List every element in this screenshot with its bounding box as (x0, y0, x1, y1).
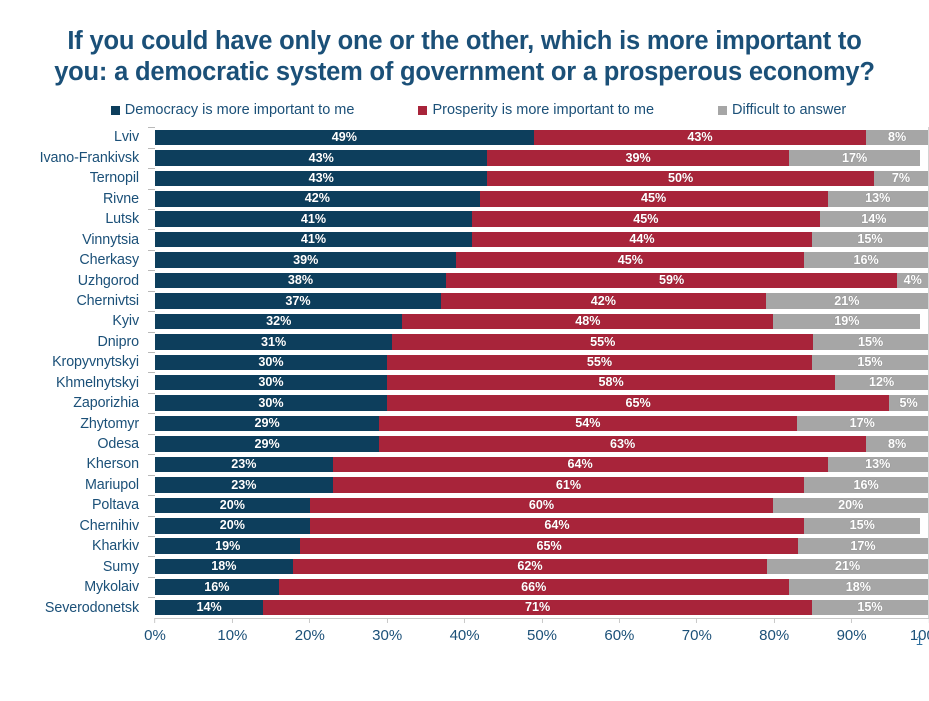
category-label-vinnytsia: Vinnytsia (0, 232, 148, 248)
bar-segment-b[interactable]: 55% (392, 334, 813, 350)
x-tick-label: 0% (144, 627, 166, 644)
x-tick-label: 50% (527, 627, 557, 644)
y-axis-tick (148, 495, 155, 515)
y-axis-tick (148, 413, 155, 433)
y-axis-tick (148, 454, 155, 474)
chart-legend: Democracy is more important to meProsper… (0, 102, 929, 118)
x-tick-mark (309, 618, 310, 623)
bar-segment-c[interactable]: 16% (804, 477, 928, 493)
stacked-bar-rows: Lviv49%43%8%Ivano-Frankivsk43%39%17%Tern… (0, 127, 929, 618)
x-tick-mark (542, 618, 543, 623)
bar-segment-b[interactable]: 45% (456, 252, 804, 268)
bar-track: 23%61%16% (155, 475, 929, 495)
chart-row: Kharkiv19%65%17% (0, 536, 929, 556)
bar-value-label: 44% (629, 233, 654, 246)
bar-track: 41%45%14% (155, 209, 929, 229)
category-label-odesa: Odesa (0, 436, 148, 452)
bar-segment-a[interactable]: 29% (155, 416, 379, 432)
bar-value-label: 30% (258, 397, 283, 410)
x-tick-90: 90% (837, 618, 867, 644)
bar-value-label: 15% (857, 356, 882, 369)
x-tick-mark (155, 618, 156, 623)
bar-track: 23%64%13% (155, 454, 929, 474)
chart-row: Kropyvnytskyi30%55%15% (0, 352, 929, 372)
bar-segment-b[interactable]: 50% (487, 171, 874, 187)
y-axis-tick (148, 352, 155, 372)
chart-row: Dnipro31%55%15% (0, 332, 929, 352)
bar-segment-a[interactable]: 14% (155, 600, 263, 616)
bar-segment-c[interactable]: 12% (835, 375, 928, 391)
y-axis-tick (148, 229, 155, 249)
x-tick-40: 40% (450, 618, 480, 644)
x-tick-label: 90% (837, 627, 867, 644)
bar-value-label: 54% (575, 417, 600, 430)
bar-segment-a[interactable]: 31% (155, 334, 392, 350)
bar-value-label: 30% (258, 376, 283, 389)
x-tick-20: 20% (295, 618, 325, 644)
bar-segment-c[interactable]: 20% (773, 498, 928, 514)
bar-track: 41%44%15% (155, 229, 929, 249)
x-tick-mark (464, 618, 465, 623)
bar-segment-b[interactable]: 45% (480, 191, 828, 207)
bar-value-label: 19% (834, 315, 859, 328)
bar-value-label: 64% (544, 519, 569, 532)
category-label-severodonetsk: Severodonetsk (0, 600, 148, 616)
bar-segment-a[interactable]: 23% (155, 477, 333, 493)
bar-segment-c[interactable]: 15% (804, 518, 920, 534)
bar-value-label: 71% (525, 601, 550, 614)
bar-track: 39%45%16% (155, 250, 929, 270)
x-tick-label: 80% (759, 627, 789, 644)
bar-track: 20%64%15% (155, 516, 929, 536)
category-label-poltava: Poltava (0, 497, 148, 513)
legend-item-2[interactable]: Difficult to answer (718, 102, 846, 118)
chart-row: Uzhgorod38%59%4% (0, 270, 929, 290)
bar-value-label: 39% (626, 152, 651, 165)
category-label-lviv: Lviv (0, 129, 148, 145)
bar-segment-a[interactable]: 39% (155, 252, 456, 268)
bar-segment-a[interactable]: 20% (155, 498, 310, 514)
chart-row: Kyiv32%48%19% (0, 311, 929, 331)
bar-value-label: 15% (858, 336, 883, 349)
bar-segment-c[interactable]: 7% (874, 171, 928, 187)
bar-segment-b[interactable]: 44% (472, 232, 812, 248)
x-tick-label: 10% (217, 627, 247, 644)
bar-value-label: 20% (220, 519, 245, 532)
bar-value-label: 49% (332, 131, 357, 144)
bar-segment-c[interactable]: 19% (773, 314, 920, 330)
y-axis-tick (148, 311, 155, 331)
bar-segment-b[interactable]: 48% (402, 314, 773, 330)
bar-segment-a[interactable]: 16% (155, 579, 279, 595)
bar-value-label: 14% (861, 213, 886, 226)
bar-segment-b[interactable]: 54% (379, 416, 796, 432)
bar-value-label: 38% (288, 274, 313, 287)
legend-label: Difficult to answer (732, 102, 846, 118)
bar-value-label: 13% (865, 192, 890, 205)
y-axis-tick (148, 577, 155, 597)
bar-segment-b[interactable]: 61% (333, 477, 805, 493)
bar-track: 16%66%18% (155, 577, 929, 597)
bar-segment-c[interactable]: 15% (812, 232, 928, 248)
category-label-uzhgorod: Uzhgorod (0, 273, 148, 289)
bar-value-label: 19% (215, 540, 240, 553)
x-tick-mark (774, 618, 775, 623)
category-label-lutsk: Lutsk (0, 211, 148, 227)
bar-value-label: 14% (197, 601, 222, 614)
bar-track: 31%55%15% (155, 332, 929, 352)
chart-row: Zhytomyr29%54%17% (0, 413, 929, 433)
page-number: 1 (916, 633, 923, 648)
bar-value-label: 60% (529, 499, 554, 512)
bar-segment-b[interactable]: 64% (310, 518, 805, 534)
bar-segment-a[interactable]: 37% (155, 293, 441, 309)
bar-value-label: 21% (835, 560, 860, 573)
bar-value-label: 23% (231, 458, 256, 471)
bar-value-label: 45% (633, 213, 658, 226)
bar-segment-b[interactable]: 60% (310, 498, 774, 514)
bar-segment-c[interactable]: 15% (813, 334, 928, 350)
bar-value-label: 23% (231, 479, 256, 492)
y-axis-tick (148, 434, 155, 454)
y-axis-tick (148, 168, 155, 188)
x-axis-line: 0%10%20%30%40%50%60%70%80%90%100% (155, 618, 929, 644)
bar-value-label: 64% (568, 458, 593, 471)
bar-segment-b[interactable]: 65% (300, 538, 797, 554)
category-label-mariupol: Mariupol (0, 477, 148, 493)
legend-swatch-icon (718, 106, 727, 115)
legend-item-1[interactable]: Prosperity is more important to me (418, 102, 654, 118)
bar-segment-c[interactable]: 18% (789, 579, 928, 595)
category-label-rivne: Rivne (0, 191, 148, 207)
y-axis-tick (148, 270, 155, 290)
x-tick-70: 70% (682, 618, 712, 644)
y-axis-tick (148, 393, 155, 413)
bar-value-label: 8% (888, 438, 906, 451)
bar-segment-a[interactable]: 32% (155, 314, 402, 330)
bar-segment-a[interactable]: 30% (155, 355, 387, 371)
legend-label: Prosperity is more important to me (432, 102, 654, 118)
bar-value-label: 43% (309, 172, 334, 185)
bar-segment-c[interactable]: 21% (766, 293, 928, 309)
bar-segment-c[interactable]: 4% (897, 273, 928, 289)
bar-segment-b[interactable]: 39% (487, 150, 788, 166)
chart-row: Vinnytsia41%44%15% (0, 229, 929, 249)
bar-value-label: 13% (865, 458, 890, 471)
bar-value-label: 62% (517, 560, 542, 573)
y-axis-tick (148, 597, 155, 617)
bar-segment-b[interactable]: 43% (534, 130, 866, 146)
chart-row: Ternopil43%50%7% (0, 168, 929, 188)
bar-track: 30%65%5% (155, 393, 929, 413)
category-label-sumy: Sumy (0, 559, 148, 575)
category-label-cherkasy: Cherkasy (0, 252, 148, 268)
y-axis-tick (148, 556, 155, 576)
bar-value-label: 63% (610, 438, 635, 451)
y-axis-tick (148, 332, 155, 352)
bar-value-label: 18% (211, 560, 236, 573)
chart-row: Poltava20%60%20% (0, 495, 929, 515)
category-label-khmelnytskyi: Khmelnytskyi (0, 375, 148, 391)
x-tick-10: 10% (217, 618, 247, 644)
bar-value-label: 48% (575, 315, 600, 328)
bar-value-label: 66% (521, 581, 546, 594)
bar-track: 30%55%15% (155, 352, 929, 372)
bar-segment-b[interactable]: 59% (446, 273, 898, 289)
bar-segment-c[interactable]: 17% (789, 150, 920, 166)
bar-segment-c[interactable]: 8% (866, 436, 928, 452)
y-axis-tick (148, 475, 155, 495)
bar-segment-c[interactable]: 21% (767, 559, 928, 575)
bar-value-label: 65% (537, 540, 562, 553)
x-tick-label: 60% (604, 627, 634, 644)
chart-plot-area: Lviv49%43%8%Ivano-Frankivsk43%39%17%Tern… (0, 127, 929, 644)
bar-value-label: 50% (668, 172, 693, 185)
bar-value-label: 21% (834, 295, 859, 308)
bar-value-label: 17% (842, 152, 867, 165)
bar-segment-c[interactable]: 5% (889, 395, 928, 411)
y-axis-tick (148, 189, 155, 209)
bar-track: 14%71%15% (155, 597, 929, 617)
bar-value-label: 7% (892, 172, 910, 185)
chart-row: Khmelnytskyi30%58%12% (0, 372, 929, 392)
y-axis-tick (148, 127, 155, 147)
chart-row: Chernihiv20%64%15% (0, 516, 929, 536)
bar-value-label: 16% (854, 479, 879, 492)
x-tick-mark (232, 618, 233, 623)
bar-value-label: 42% (591, 295, 616, 308)
y-axis-tick (148, 209, 155, 229)
bar-segment-a[interactable]: 42% (155, 191, 480, 207)
bar-segment-a[interactable]: 41% (155, 232, 472, 248)
bar-segment-c[interactable]: 15% (812, 355, 928, 371)
bar-value-label: 17% (850, 417, 875, 430)
bar-value-label: 15% (857, 601, 882, 614)
bar-value-label: 43% (687, 131, 712, 144)
bar-value-label: 39% (293, 254, 318, 267)
bar-segment-a[interactable]: 43% (155, 150, 487, 166)
bar-track: 29%54%17% (155, 413, 929, 433)
y-axis-tick (148, 291, 155, 311)
bar-segment-c[interactable]: 13% (828, 457, 928, 473)
bar-segment-b[interactable]: 71% (263, 600, 812, 616)
bar-value-label: 32% (266, 315, 291, 328)
bar-value-label: 17% (850, 540, 875, 553)
bar-track: 18%62%21% (155, 556, 929, 576)
bar-track: 43%39%17% (155, 148, 929, 168)
bar-value-label: 20% (220, 499, 245, 512)
x-tick-80: 80% (759, 618, 789, 644)
x-tick-mark (851, 618, 852, 623)
page-title: If you could have only one or the other,… (0, 0, 929, 88)
axis-left-pad (0, 618, 155, 644)
bar-value-label: 29% (254, 417, 279, 430)
x-tick-mark (387, 618, 388, 623)
bar-segment-a[interactable]: 41% (155, 211, 472, 227)
bar-value-label: 55% (590, 336, 615, 349)
bar-track: 42%45%13% (155, 189, 929, 209)
bar-segment-a[interactable]: 19% (155, 538, 300, 554)
chart-row: Severodonetsk14%71%15% (0, 597, 929, 617)
x-tick-label: 20% (295, 627, 325, 644)
bar-value-label: 37% (285, 295, 310, 308)
y-axis-tick (148, 148, 155, 168)
y-axis-tick (148, 516, 155, 536)
category-label-chernivtsi: Chernivtsi (0, 293, 148, 309)
bar-value-label: 42% (305, 192, 330, 205)
bar-segment-a[interactable]: 18% (155, 559, 293, 575)
bar-value-label: 16% (854, 254, 879, 267)
bar-segment-b[interactable]: 45% (472, 211, 820, 227)
chart-row: Sumy18%62%21% (0, 556, 929, 576)
bar-segment-c[interactable]: 15% (812, 600, 928, 616)
y-axis-tick (148, 250, 155, 270)
chart-row: Odesa29%63%8% (0, 434, 929, 454)
bar-value-label: 41% (301, 213, 326, 226)
bar-value-label: 59% (659, 274, 684, 287)
bar-segment-a[interactable]: 38% (155, 273, 446, 289)
bar-segment-b[interactable]: 58% (387, 375, 835, 391)
bar-track: 30%58%12% (155, 372, 929, 392)
category-label-dnipro: Dnipro (0, 334, 148, 350)
category-label-zhytomyr: Zhytomyr (0, 416, 148, 432)
chart-row: Chernivtsi37%42%21% (0, 291, 929, 311)
bar-segment-b[interactable]: 42% (441, 293, 766, 309)
bar-segment-b[interactable]: 65% (387, 395, 889, 411)
chart-row: Ivano-Frankivsk43%39%17% (0, 148, 929, 168)
bar-segment-c[interactable]: 16% (804, 252, 928, 268)
bar-value-label: 5% (900, 397, 918, 410)
bar-value-label: 55% (587, 356, 612, 369)
category-label-kyiv: Kyiv (0, 313, 148, 329)
chart-row: Mykolaiv16%66%18% (0, 577, 929, 597)
legend-swatch-icon (418, 106, 427, 115)
chart-row: Rivne42%45%13% (0, 189, 929, 209)
category-label-mykolaiv: Mykolaiv (0, 579, 148, 595)
bar-value-label: 45% (618, 254, 643, 267)
bar-value-label: 8% (888, 131, 906, 144)
x-tick-label: 40% (450, 627, 480, 644)
legend-label: Democracy is more important to me (125, 102, 355, 118)
bar-value-label: 16% (204, 581, 229, 594)
bar-value-label: 30% (258, 356, 283, 369)
bar-value-label: 58% (598, 376, 623, 389)
bar-track: 37%42%21% (155, 291, 929, 311)
x-tick-label: 30% (372, 627, 402, 644)
bar-segment-b[interactable]: 55% (387, 355, 812, 371)
bar-value-label: 41% (301, 233, 326, 246)
bar-segment-c[interactable]: 13% (828, 191, 928, 207)
x-tick-mark (696, 618, 697, 623)
bar-segment-a[interactable]: 30% (155, 375, 387, 391)
chart-row: Lutsk41%45%14% (0, 209, 929, 229)
bar-segment-b[interactable]: 63% (379, 436, 866, 452)
x-tick-60: 60% (604, 618, 634, 644)
bar-value-label: 29% (254, 438, 279, 451)
bar-segment-a[interactable]: 30% (155, 395, 387, 411)
bar-value-label: 65% (626, 397, 651, 410)
bar-value-label: 43% (309, 152, 334, 165)
x-tick-mark (619, 618, 620, 623)
bar-segment-c[interactable]: 17% (797, 416, 928, 432)
bar-value-label: 61% (556, 479, 581, 492)
y-axis-tick (148, 372, 155, 392)
bar-value-label: 18% (846, 581, 871, 594)
bar-segment-c[interactable]: 14% (820, 211, 928, 227)
bar-track: 29%63%8% (155, 434, 929, 454)
legend-swatch-icon (111, 106, 120, 115)
bar-segment-b[interactable]: 66% (279, 579, 789, 595)
bar-value-label: 20% (838, 499, 863, 512)
bar-segment-a[interactable]: 43% (155, 171, 487, 187)
bar-segment-b[interactable]: 62% (293, 559, 768, 575)
category-label-ivano-frankivsk: Ivano-Frankivsk (0, 150, 148, 166)
chart-row: Zaporizhia30%65%5% (0, 393, 929, 413)
bar-value-label: 45% (641, 192, 666, 205)
x-tick-30: 30% (372, 618, 402, 644)
chart-row: Lviv49%43%8% (0, 127, 929, 147)
bar-segment-a[interactable]: 23% (155, 457, 333, 473)
bar-track: 20%60%20% (155, 495, 929, 515)
category-label-chernihiv: Chernihiv (0, 518, 148, 534)
category-label-zaporizhia: Zaporizhia (0, 395, 148, 411)
category-label-ternopil: Ternopil (0, 170, 148, 186)
bar-value-label: 12% (869, 376, 894, 389)
category-label-kropyvnytskyi: Kropyvnytskyi (0, 354, 148, 370)
bar-track: 43%50%7% (155, 168, 929, 188)
x-tick-50: 50% (527, 618, 557, 644)
bar-value-label: 31% (261, 336, 286, 349)
bar-track: 38%59%4% (155, 270, 929, 290)
bar-segment-a[interactable]: 49% (155, 130, 534, 146)
y-axis-tick (148, 536, 155, 556)
bar-segment-c[interactable]: 8% (866, 130, 928, 146)
bar-track: 49%43%8% (155, 127, 929, 147)
chart-row: Kherson23%64%13% (0, 454, 929, 474)
x-axis: 0%10%20%30%40%50%60%70%80%90%100% (0, 618, 929, 644)
x-tick-label: 70% (682, 627, 712, 644)
chart-row: Mariupol23%61%16% (0, 475, 929, 495)
category-label-kherson: Kherson (0, 456, 148, 472)
bar-value-label: 15% (857, 233, 882, 246)
bar-segment-a[interactable]: 29% (155, 436, 379, 452)
bar-segment-a[interactable]: 20% (155, 518, 310, 534)
bar-track: 32%48%19% (155, 311, 929, 331)
bar-segment-c[interactable]: 17% (798, 538, 928, 554)
bar-segment-b[interactable]: 64% (333, 457, 828, 473)
bar-value-label: 4% (904, 274, 922, 287)
bar-track: 19%65%17% (155, 536, 929, 556)
chart-row: Cherkasy39%45%16% (0, 250, 929, 270)
x-tick-0: 0% (144, 618, 166, 644)
category-label-kharkiv: Kharkiv (0, 538, 148, 554)
bar-value-label: 15% (850, 519, 875, 532)
legend-item-0[interactable]: Democracy is more important to me (111, 102, 355, 118)
